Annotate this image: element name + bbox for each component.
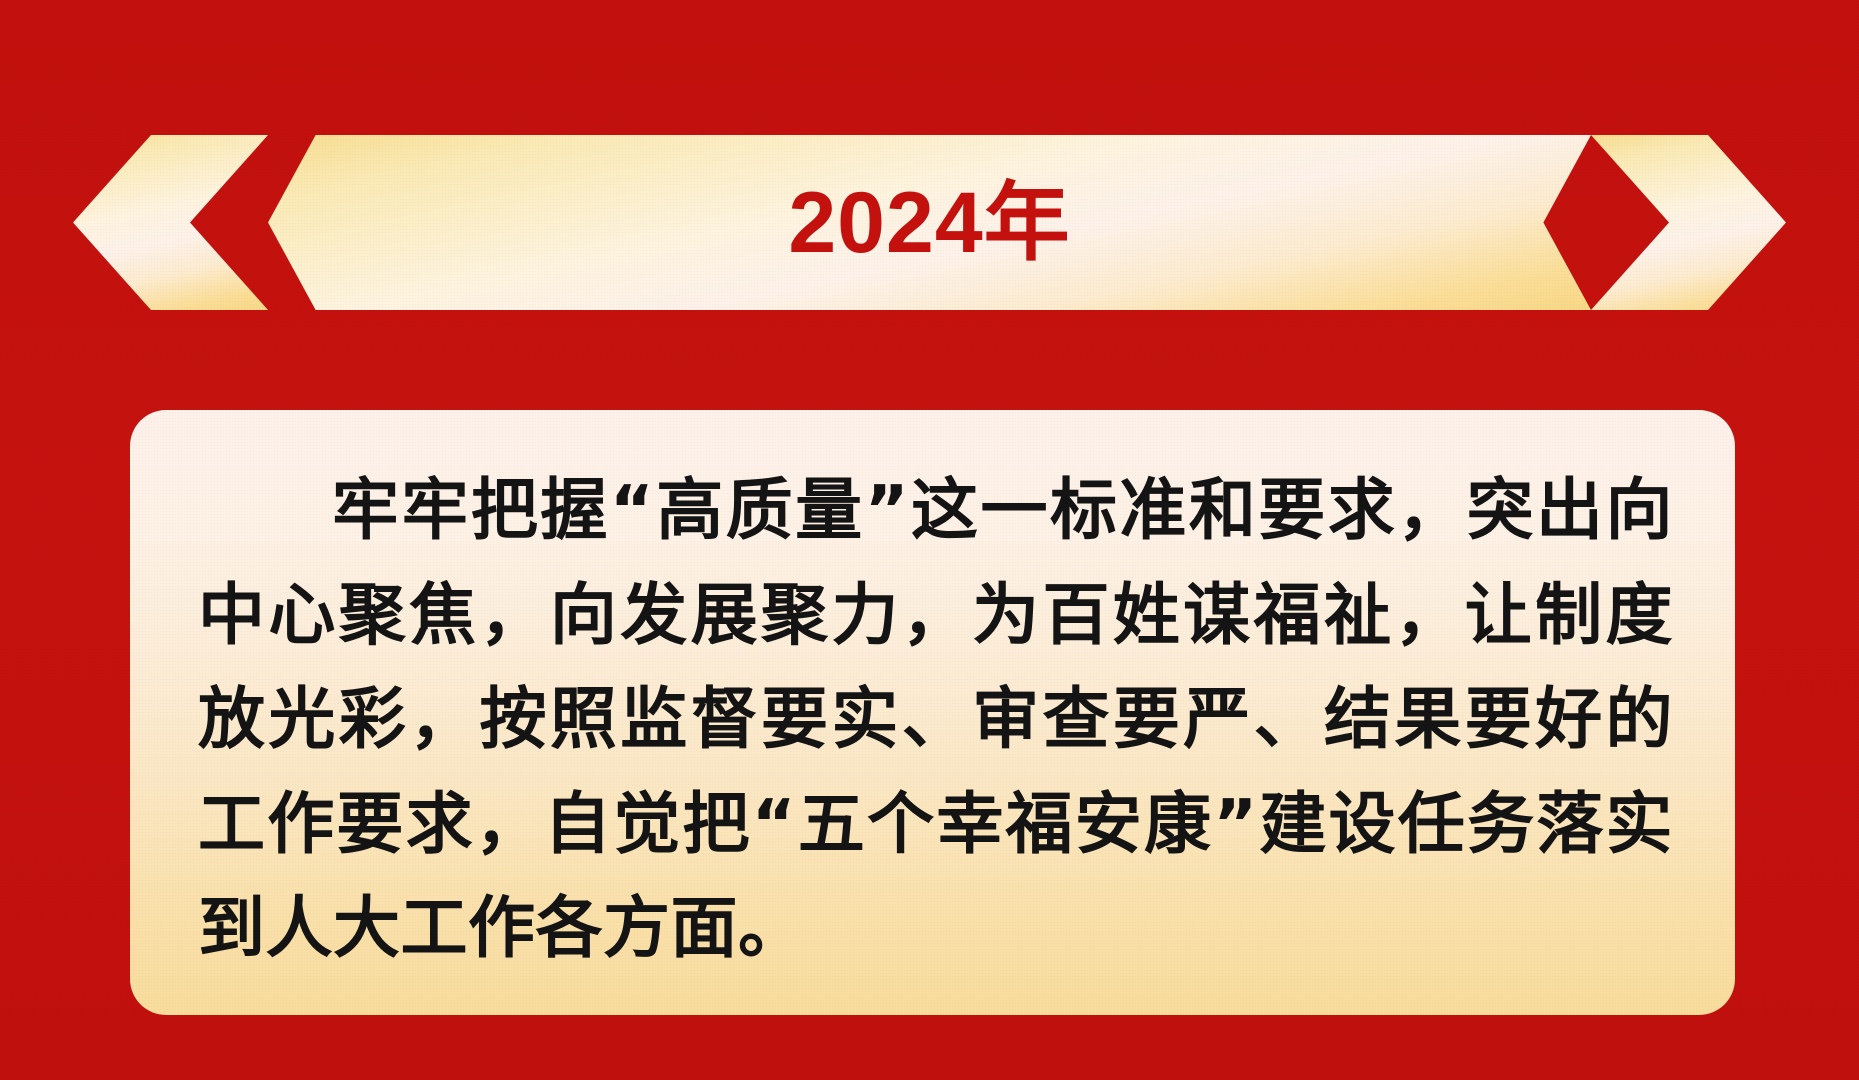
- poster-canvas: 2024年 牢牢把握“高质量”这一标准和要求，突出向中心聚焦，向发展聚力，为百姓…: [0, 0, 1859, 1080]
- banner-ribbon: 2024年: [0, 135, 1859, 310]
- card-paragraph: 牢牢把握“高质量”这一标准和要求，突出向中心聚焦，向发展聚力，为百姓谋福祉，让制…: [198, 458, 1673, 981]
- content-card: 牢牢把握“高质量”这一标准和要求，突出向中心聚焦，向发展聚力，为百姓谋福祉，让制…: [130, 410, 1735, 1015]
- page-title: 2024年: [0, 135, 1859, 310]
